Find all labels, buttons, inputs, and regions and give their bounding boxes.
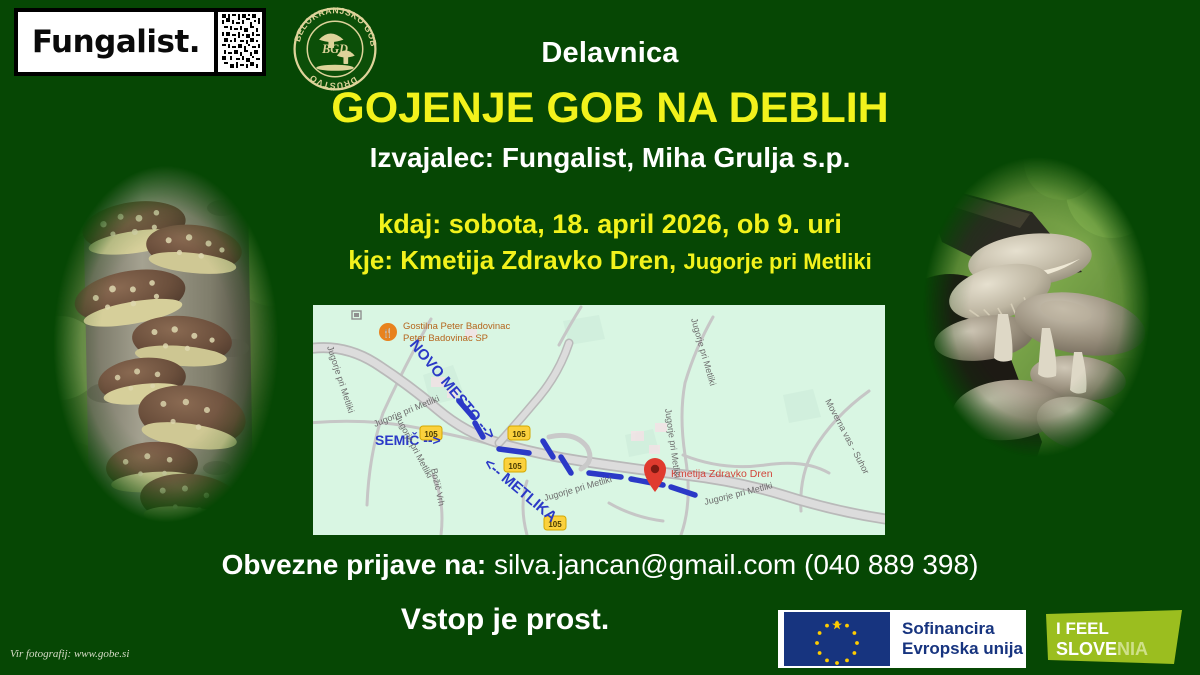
svg-text:SLOVENIA: SLOVENIA [1056, 639, 1148, 659]
eu-funding-text: Sofinancira Evropska unija [902, 619, 1023, 659]
kicker-label: Delavnica [290, 38, 930, 70]
eu-funding-logo: Sofinancira Evropska unija [778, 610, 1026, 668]
photo-oyster [912, 142, 1162, 472]
photo-shiitake [42, 148, 290, 540]
event-location: kje: Kmetija Zdravko Dren, Jugorje pri M… [290, 244, 930, 277]
eu-funding-line1: Sofinancira [902, 619, 1023, 639]
slovenia-line1: I FEEL [1056, 619, 1109, 638]
poster-canvas: Fungalist. [0, 0, 1200, 675]
map-poi-restaurant-line1: Gostilna Peter Badovinac [403, 321, 510, 332]
page-title: GOJENJE GOB NA DEBLIH [290, 86, 930, 131]
wordmark-plate: Fungalist. [18, 12, 214, 72]
location-map[interactable]: 105 105 105 105 🍴 Gostilna [313, 305, 885, 535]
event-location-farm: kje: Kmetija Zdravko Dren, [348, 245, 676, 275]
event-location-village: Jugorje pri Metliki [683, 249, 871, 274]
qr-code-icon[interactable] [218, 12, 262, 72]
svg-text:105: 105 [508, 462, 522, 471]
map-destination-label: Kmetija Zdravko Dren [671, 468, 773, 480]
headline-block: Delavnica GOJENJE GOB NA DEBLIH Izvajale… [290, 0, 930, 276]
fungalist-wordmark: Fungalist. [18, 12, 214, 72]
fungalist-logo: Fungalist. [14, 8, 266, 76]
presenter-label: Izvajalec: Fungalist, Miha Grulja s.p. [290, 143, 930, 174]
signup-contact[interactable]: silva.jancan@gmail.com (040 889 398) [494, 549, 978, 580]
photo-oyster-mask [912, 142, 1162, 472]
signup-label: Obvezne prijave na: [222, 549, 487, 580]
eu-flag-icon [784, 612, 890, 666]
photo-credit: Vir fotografij: www.gobe.si [10, 648, 129, 660]
signup-line: Obvezne prijave na: silva.jancan@gmail.c… [0, 549, 1200, 581]
svg-text:🍴: 🍴 [382, 327, 393, 339]
i-feel-slovenia-logo: I FEEL SLOVENIA [1042, 610, 1186, 668]
event-datetime: kdaj: sobota, 18. april 2026, ob 9. uri [290, 208, 930, 242]
eu-funding-line2: Evropska unija [902, 639, 1023, 659]
svg-text:105: 105 [512, 430, 526, 439]
photo-shiitake-mask [42, 148, 290, 540]
